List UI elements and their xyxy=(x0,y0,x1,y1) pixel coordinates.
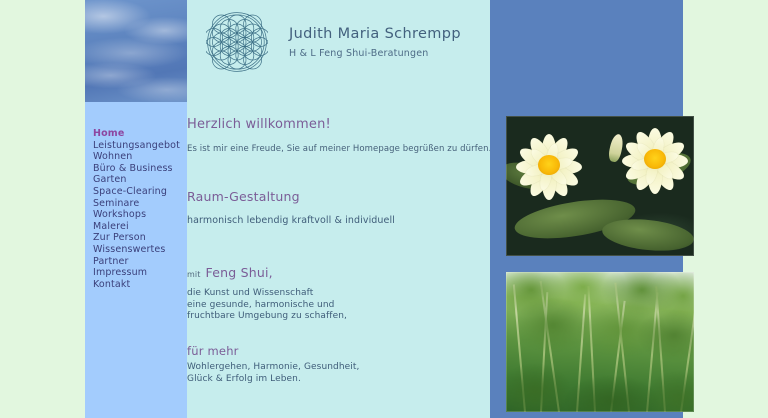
fuer-mehr-text: Wohlergehen, Harmonie, Gesundheit, Glück… xyxy=(187,362,360,385)
sidebar-item-kontakt[interactable]: Kontakt xyxy=(85,279,187,291)
sidebar-item-buero-business[interactable]: Büro & Business xyxy=(85,163,187,175)
feng-shui-line: mit Feng Shui, xyxy=(187,262,273,281)
sidebar-item-home[interactable]: Home xyxy=(85,128,187,140)
fuer-mehr-heading: für mehr xyxy=(187,344,239,358)
content-column: Judith Maria Schrempp H & L Feng Shui-Be… xyxy=(187,0,490,418)
definition-line-2: eine gesunde, harmonische und xyxy=(187,300,347,312)
site-header: Judith Maria Schrempp H & L Feng Shui-Be… xyxy=(187,0,490,92)
water-lily-bloom xyxy=(512,132,586,198)
sidebar-item-impressum[interactable]: Impressum xyxy=(85,267,187,279)
site-tagline: H & L Feng Shui-Beratungen xyxy=(289,48,461,60)
sidebar-item-zur-person[interactable]: Zur Person xyxy=(85,232,187,244)
feng-shui-label: Feng Shui, xyxy=(206,265,273,280)
raum-subtitle: harmonisch lebendig kraftvoll & individu… xyxy=(187,215,395,227)
fuer-mehr-line-2: Glück & Erfolg im Leben. xyxy=(187,374,360,386)
site-title: Judith Maria Schrempp xyxy=(289,26,461,43)
sidebar-item-malerei[interactable]: Malerei xyxy=(85,221,187,233)
flower-of-life-icon xyxy=(206,11,268,73)
sidebar-item-partner[interactable]: Partner xyxy=(85,256,187,268)
sidebar-item-seminare[interactable]: Seminare xyxy=(85,198,187,210)
water-lilies-photo xyxy=(506,116,694,256)
sidebar-item-workshops[interactable]: Workshops xyxy=(85,209,187,221)
definition-line-3: fruchtbare Umgebung zu schaffen, xyxy=(187,311,347,323)
brand-text-block: Judith Maria Schrempp H & L Feng Shui-Be… xyxy=(289,26,461,60)
sidebar-item-leistungsangebot[interactable]: Leistungsangebot xyxy=(85,140,187,152)
right-photo-column xyxy=(490,0,683,418)
welcome-text: Es ist mir eine Freude, Sie auf meiner H… xyxy=(187,144,491,155)
definition-text: die Kunst und Wissenschaft eine gesunde,… xyxy=(187,288,347,323)
sidebar-item-space-clearing[interactable]: Space-Clearing xyxy=(85,186,187,198)
main-navigation: Home Leistungsangebot Wohnen Büro & Busi… xyxy=(85,128,187,290)
feng-shui-prefix: mit xyxy=(187,270,200,279)
sidebar: Home Leistungsangebot Wohnen Büro & Busi… xyxy=(85,0,187,418)
raum-heading: Raum-Gestaltung xyxy=(187,189,300,204)
welcome-heading: Herzlich willkommen! xyxy=(187,117,331,132)
sidebar-sky-photo xyxy=(85,0,187,102)
fuer-mehr-line-1: Wohlergehen, Harmonie, Gesundheit, xyxy=(187,362,360,374)
definition-line-1: die Kunst und Wissenschaft xyxy=(187,288,347,300)
bamboo-forest-photo xyxy=(506,272,694,412)
sidebar-item-wissenswertes[interactable]: Wissenswertes xyxy=(85,244,187,256)
water-lily-bloom xyxy=(618,126,692,192)
sidebar-item-wohnen[interactable]: Wohnen xyxy=(85,151,187,163)
page-root: Home Leistungsangebot Wohnen Büro & Busi… xyxy=(0,0,768,418)
sky-photo-image xyxy=(85,0,187,102)
sidebar-item-garten[interactable]: Garten xyxy=(85,174,187,186)
